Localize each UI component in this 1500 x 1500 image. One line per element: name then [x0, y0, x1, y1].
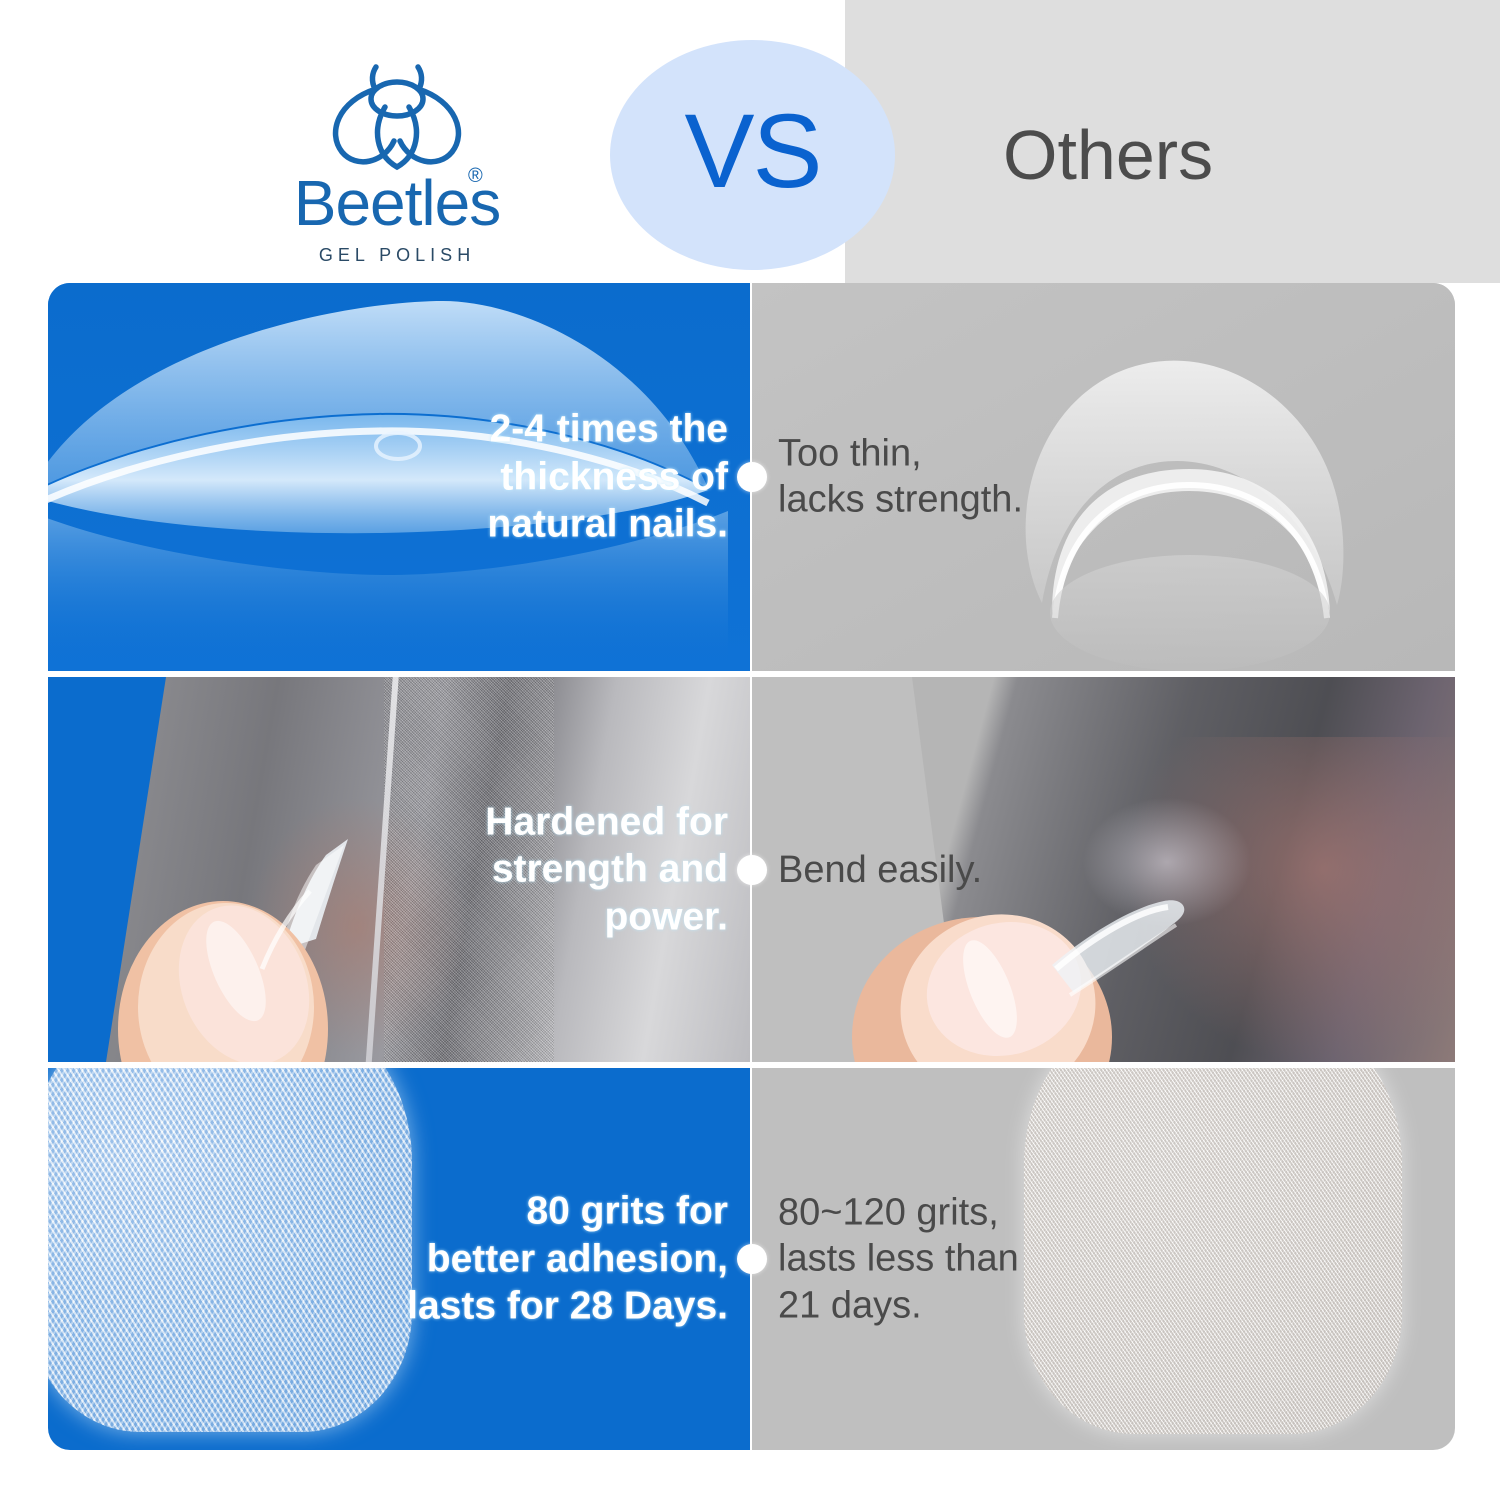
- comparison-row-strength: Hardened for strength and power.: [48, 677, 1455, 1062]
- vs-label: VS: [684, 99, 820, 204]
- competitor-panel-strength: Bend easily.: [752, 677, 1455, 1062]
- competitor-text-thickness: Too thin, lacks strength.: [778, 431, 1023, 524]
- comparison-row-grit: 80 grits for better adhesion, lasts for …: [48, 1068, 1455, 1450]
- brand-text-strength: Hardened for strength and power.: [485, 798, 728, 941]
- competitor-text-strength: Bend easily.: [778, 846, 982, 892]
- divider-dot-strength: [737, 855, 767, 885]
- brand-panel-strength: Hardened for strength and power.: [48, 677, 750, 1062]
- comparison-row-thickness: 2-4 times the thickness of natural nails…: [48, 283, 1455, 671]
- brand-text-thickness: 2-4 times the thickness of natural nails…: [487, 406, 728, 549]
- brand-text-grit: 80 grits for better adhesion, lasts for …: [407, 1188, 728, 1331]
- brand-panel-grit: 80 grits for better adhesion, lasts for …: [48, 1068, 750, 1450]
- brand-name: Beetles: [272, 171, 522, 235]
- beetle-mark-icon: [272, 55, 522, 175]
- competitor-text-grit: 80~120 grits, lasts less than 21 days.: [778, 1189, 1019, 1328]
- competitor-panel-thickness: Too thin, lacks strength.: [752, 283, 1455, 671]
- competitor-heading: Others: [1003, 115, 1213, 195]
- vs-badge: VS: [610, 40, 895, 270]
- divider-dot-thickness: [737, 462, 767, 492]
- brand-tagline: GEL POLISH: [272, 245, 522, 266]
- divider-dot-grit: [737, 1244, 767, 1274]
- competitor-panel-grit: 80~120 grits, lasts less than 21 days.: [752, 1068, 1455, 1450]
- registered-trademark-symbol: ®: [468, 165, 483, 188]
- brand-logo: Beetles ® GEL POLISH: [272, 55, 522, 270]
- brand-panel-thickness: 2-4 times the thickness of natural nails…: [48, 283, 750, 671]
- infographic-root: Beetles ® GEL POLISH VS Others: [0, 0, 1500, 1500]
